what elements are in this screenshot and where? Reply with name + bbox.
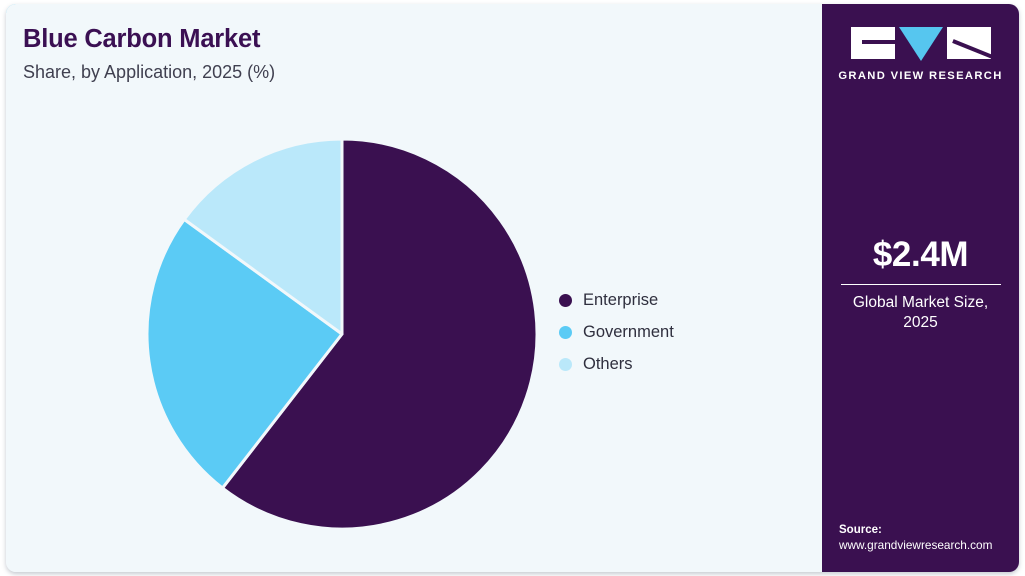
stat-divider <box>841 284 1001 286</box>
source-footer: Source: www.grandviewresearch.com <box>839 523 1019 554</box>
chart-legend: Enterprise Government Others <box>559 284 789 380</box>
page-title: Blue Carbon Market <box>23 24 723 55</box>
market-size-value: $2.4M <box>822 236 1019 275</box>
logo-r-icon <box>947 27 991 59</box>
chart-area: Enterprise Government Others <box>6 104 822 572</box>
infographic-canvas: Blue Carbon Market Share, by Application… <box>0 0 1025 576</box>
page-subtitle: Share, by Application, 2025 (%) <box>23 61 723 84</box>
logo-v-triangle-icon <box>899 27 943 61</box>
pie-chart <box>144 136 540 532</box>
market-size-caption: Global Market Size, 2025 <box>822 293 1019 333</box>
brand-sidebar: GRAND VIEW RESEARCH $2.4M Global Market … <box>822 4 1019 572</box>
legend-item-others[interactable]: Others <box>559 348 789 380</box>
source-url: www.grandviewresearch.com <box>839 538 1019 554</box>
legend-swatch-others <box>559 358 572 371</box>
report-card: Blue Carbon Market Share, by Application… <box>6 4 1019 572</box>
pie-chart-svg <box>144 136 540 532</box>
title-group: Blue Carbon Market Share, by Application… <box>23 24 723 84</box>
logo-g-icon <box>851 27 895 59</box>
legend-swatch-government <box>559 326 572 339</box>
legend-item-enterprise[interactable]: Enterprise <box>559 284 789 316</box>
source-label: Source: <box>839 523 1019 539</box>
legend-item-government[interactable]: Government <box>559 316 789 348</box>
legend-label-enterprise: Enterprise <box>583 292 658 309</box>
logo-marks <box>822 27 1019 61</box>
legend-label-government: Government <box>583 324 674 341</box>
pie-slice-group <box>147 139 537 529</box>
chart-pane: Blue Carbon Market Share, by Application… <box>6 4 822 572</box>
brand-name: GRAND VIEW RESEARCH <box>822 70 1019 82</box>
brand-logo: GRAND VIEW RESEARCH <box>822 27 1019 82</box>
market-size-stat: $2.4M Global Market Size, 2025 <box>822 236 1019 333</box>
legend-swatch-enterprise <box>559 294 572 307</box>
legend-label-others: Others <box>583 356 633 373</box>
